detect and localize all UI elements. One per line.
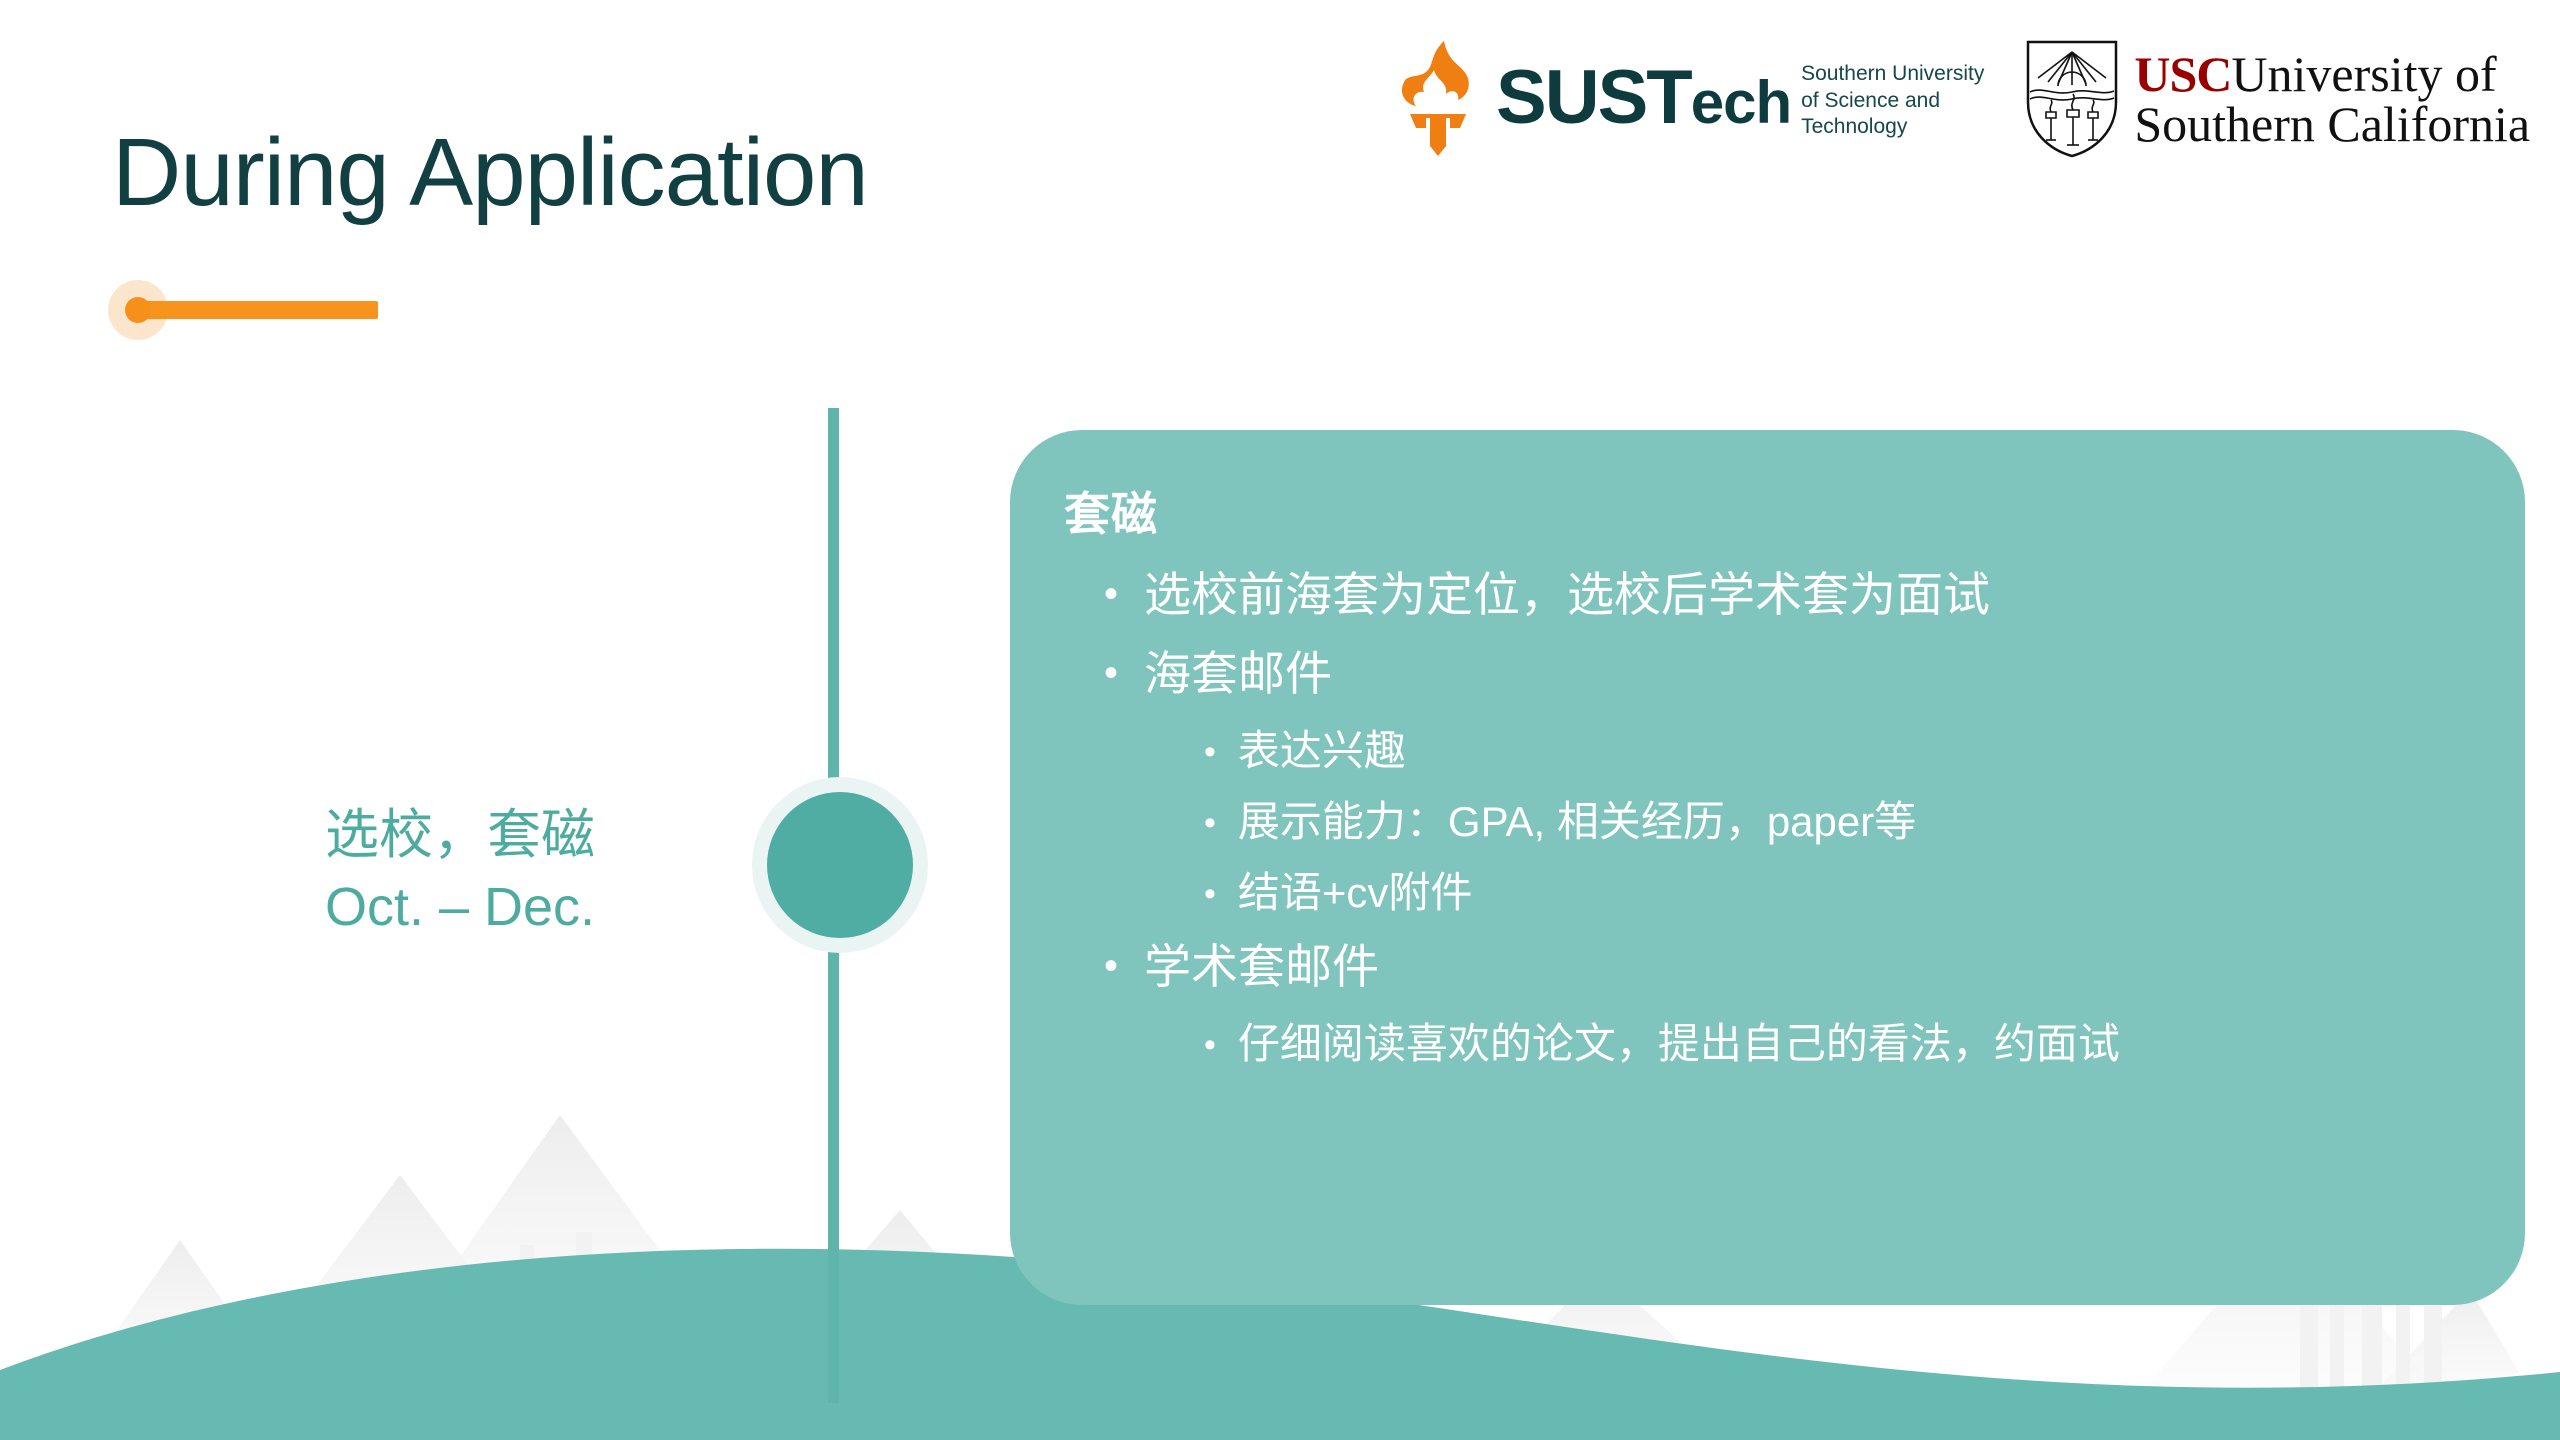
bullet-dot-icon: • bbox=[1204, 806, 1216, 840]
card-bullet-list: •选校前海套为定位，选校后学术套为面试•海套邮件•表达兴趣•展示能力：GPA, … bbox=[1052, 566, 2485, 1069]
bullet-text: 海套邮件 bbox=[1144, 645, 1332, 702]
slide-canvas: SUSTech Southern University of Science a… bbox=[0, 0, 2560, 1440]
card-bullet-item: •选校前海套为定位，选校后学术套为面试 bbox=[1104, 566, 2485, 623]
usc-logo: USCUniversity of Southern California bbox=[2024, 38, 2530, 160]
card-bullet-item: •展示能力：GPA, 相关经历，paper等 bbox=[1204, 796, 2485, 847]
sustech-torch-flame-icon bbox=[1390, 38, 1486, 158]
accent-bar bbox=[138, 301, 378, 319]
usc-abbr: USC bbox=[2134, 46, 2231, 102]
usc-shield-icon bbox=[2024, 38, 2120, 160]
timeline-stage-label: 选校，套磁 Oct. – Dec. bbox=[180, 800, 740, 944]
card-bullet-item: •仔细阅读喜欢的论文，提出自己的看法，约面试 bbox=[1204, 1018, 2485, 1069]
bullet-text: 学术套邮件 bbox=[1144, 938, 1379, 995]
bullet-dot-icon: • bbox=[1204, 735, 1216, 769]
page-title: During Application bbox=[112, 118, 868, 228]
bullet-dot-icon: • bbox=[1104, 946, 1118, 986]
timeline-node[interactable] bbox=[767, 792, 913, 938]
content-card: 套磁 •选校前海套为定位，选校后学术套为面试•海套邮件•表达兴趣•展示能力：GP… bbox=[1010, 430, 2525, 1305]
sustech-tagline: Southern University of Science and Techn… bbox=[1801, 55, 1984, 142]
sustech-wordmark-suffix: ech bbox=[1691, 69, 1791, 136]
bullet-dot-icon: • bbox=[1104, 574, 1118, 614]
sustech-tagline-line-3: Technology bbox=[1801, 114, 1984, 141]
sustech-tagline-line-1: Southern University bbox=[1801, 61, 1984, 88]
sustech-tagline-line-2: of Science and bbox=[1801, 88, 1984, 115]
bullet-dot-icon: • bbox=[1204, 1028, 1216, 1062]
usc-full-line-2: Southern California bbox=[2134, 99, 2530, 149]
stage-label-line-2: Oct. – Dec. bbox=[180, 872, 740, 944]
bullet-text: 结语+cv附件 bbox=[1238, 867, 1473, 918]
card-heading: 套磁 bbox=[1064, 478, 2485, 544]
accent-dot bbox=[125, 297, 151, 323]
title-accent-underline bbox=[108, 280, 408, 340]
usc-text-block: USCUniversity of Southern California bbox=[2134, 49, 2530, 149]
sustech-logo: SUSTech Southern University of Science a… bbox=[1390, 38, 1984, 158]
card-bullet-item: •结语+cv附件 bbox=[1204, 867, 2485, 918]
card-bullet-item: •海套邮件 bbox=[1104, 645, 2485, 702]
bullet-text: 表达兴趣 bbox=[1238, 725, 1406, 776]
usc-full-line-1: University of bbox=[2231, 46, 2496, 102]
card-bullet-item: •表达兴趣 bbox=[1204, 725, 2485, 776]
sustech-wordmark: SUSTech bbox=[1496, 62, 1791, 134]
bullet-text: 选校前海套为定位，选校后学术套为面试 bbox=[1144, 566, 1990, 623]
bullet-text: 展示能力：GPA, 相关经历，paper等 bbox=[1238, 796, 1916, 847]
bullet-dot-icon: • bbox=[1204, 877, 1216, 911]
sustech-wordmark-main: SUST bbox=[1496, 55, 1691, 140]
card-bullet-item: •学术套邮件 bbox=[1104, 938, 2485, 995]
bullet-dot-icon: • bbox=[1104, 653, 1118, 693]
bullet-text: 仔细阅读喜欢的论文，提出自己的看法，约面试 bbox=[1238, 1018, 2120, 1069]
stage-label-line-1: 选校，套磁 bbox=[180, 800, 740, 872]
logo-row: SUSTech Southern University of Science a… bbox=[1390, 38, 2530, 160]
